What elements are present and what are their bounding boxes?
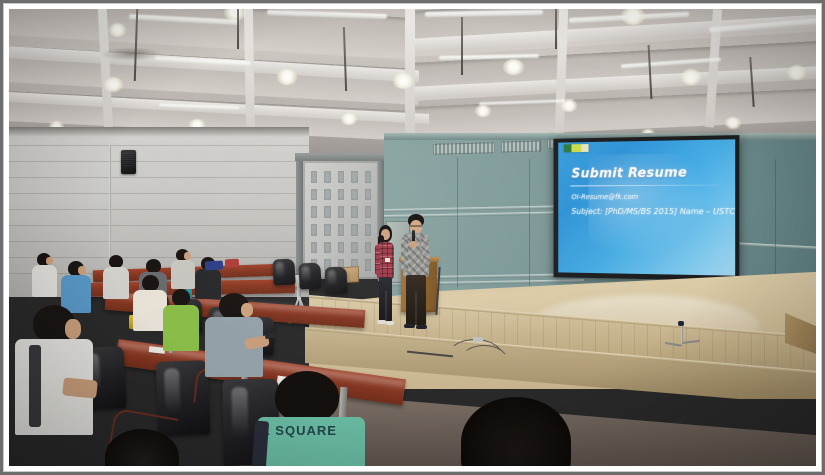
audience-member-bag-strap xyxy=(251,421,269,466)
downlight xyxy=(277,69,297,85)
wall-upper-shadow xyxy=(9,127,309,137)
presenter-man-leg-gap xyxy=(415,292,417,325)
photo-frame: Submit Resume OI-Resume@fk.com Subject: … xyxy=(0,0,825,475)
decorative-wall-panel xyxy=(303,161,379,279)
audience-member xyxy=(163,289,199,351)
wall-panel-seam xyxy=(457,157,458,287)
presenter-woman-name-badge xyxy=(385,258,390,262)
audience-member-face xyxy=(184,252,191,260)
presenter-man-shoe xyxy=(404,324,415,328)
slide-subject-line: Subject: [PhD/MS/BS 2015] Name – USTC xyxy=(571,207,735,216)
downlight xyxy=(787,65,806,80)
projection-screen: Submit Resume OI-Resume@fk.com Subject: … xyxy=(554,135,740,281)
downlight xyxy=(109,23,126,37)
ceiling-hanger-rod xyxy=(237,9,239,49)
audience-member-torso xyxy=(103,267,129,299)
audience-member-shirt-text: E SQUARE xyxy=(261,423,351,438)
ceiling-vent-grille xyxy=(433,142,495,155)
presenter-man-hand xyxy=(410,241,417,248)
audience-member-shirt-stripe xyxy=(29,345,41,427)
slide-email-line: OI-Resume@fk.com xyxy=(571,193,638,201)
slide-surface: Submit Resume OI-Resume@fk.com Subject: … xyxy=(558,139,735,275)
downlight xyxy=(475,105,491,117)
desk-item-bag xyxy=(225,259,239,268)
slide-corner-logo xyxy=(564,144,589,152)
microphone-stand xyxy=(681,325,683,343)
lecture-hall-scene: Submit Resume OI-Resume@fk.com Subject: … xyxy=(9,9,816,466)
downlight xyxy=(503,59,524,75)
downlight xyxy=(725,117,741,129)
audience-member-face xyxy=(46,257,53,265)
ceiling-vent-grille xyxy=(101,47,161,61)
presenter-man xyxy=(401,214,431,332)
ceiling-hanger-rod xyxy=(555,9,557,49)
audience-member-face xyxy=(78,266,86,275)
audience-member-torso xyxy=(171,260,195,289)
audience-member xyxy=(103,255,129,299)
presenter-woman xyxy=(373,225,397,329)
audience-member-front: E SQUARE xyxy=(257,371,365,466)
vertical-pole xyxy=(109,145,111,263)
audience-member-head xyxy=(105,429,179,466)
downlight xyxy=(104,77,123,92)
presenter-man-glasses xyxy=(410,225,422,227)
wall-panel-seam xyxy=(529,159,530,287)
audience-member-head xyxy=(146,259,161,273)
wall-mounted-speaker xyxy=(121,150,136,174)
photo-canvas: Submit Resume OI-Resume@fk.com Subject: … xyxy=(9,9,816,466)
audience-member-face xyxy=(65,319,81,339)
presenter-woman-arm xyxy=(375,245,380,275)
audience-member-torso xyxy=(133,290,167,331)
presenter-woman-shoe xyxy=(377,320,386,324)
downlight xyxy=(561,99,577,112)
presenter-man-shoe xyxy=(416,325,427,329)
presenter-man-arm-left xyxy=(401,237,408,271)
audience-member xyxy=(15,305,93,435)
downlight xyxy=(393,73,413,89)
audience-member-head xyxy=(172,289,190,306)
downlight xyxy=(681,69,701,85)
audience-member-torso xyxy=(163,305,199,351)
audience-member-torso xyxy=(32,265,57,297)
chair xyxy=(272,258,295,285)
door-header-beam xyxy=(295,153,387,161)
audience-member xyxy=(171,249,195,289)
desk-item-bag xyxy=(205,261,223,271)
chair xyxy=(298,262,321,289)
audience-member-head xyxy=(461,397,571,466)
presenter-woman-leg-gap xyxy=(385,291,387,321)
panel-square-grid xyxy=(311,171,371,271)
audience-member-head xyxy=(142,275,159,291)
downlight xyxy=(341,113,357,125)
audience-member xyxy=(205,293,263,377)
audience-member xyxy=(31,253,57,297)
audience-member-arm xyxy=(62,377,98,398)
microphone-stand-head xyxy=(678,321,684,326)
audience-member-front xyxy=(461,397,571,466)
chair xyxy=(325,267,348,295)
ceiling-hanger-rod xyxy=(461,17,463,75)
audience-member-face xyxy=(241,303,253,317)
ceiling-vent-grille xyxy=(501,140,541,152)
audience-member xyxy=(105,429,179,466)
audience-member xyxy=(133,275,167,331)
slide-title: Submit Resume xyxy=(571,165,687,181)
slide-title-underline xyxy=(570,185,718,187)
floor-connector-box xyxy=(473,337,483,342)
presenter-woman-shoe xyxy=(386,321,394,325)
audience-member-head xyxy=(275,371,339,423)
